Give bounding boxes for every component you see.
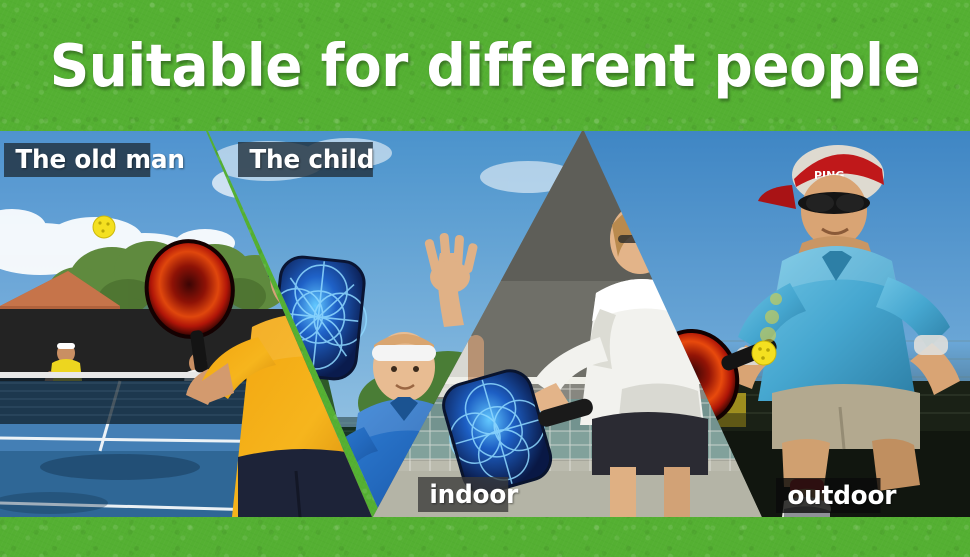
pickleball-yellow bbox=[93, 216, 115, 238]
page-title: Suitable for different people bbox=[34, 34, 936, 98]
label-the-child: The child bbox=[238, 142, 373, 177]
label-indoor-text: indoor bbox=[429, 480, 518, 510]
label-the-old-man: The old man bbox=[4, 143, 150, 177]
label-indoor: indoor bbox=[418, 477, 508, 512]
label-the-child-text: The child bbox=[249, 145, 374, 175]
label-the-old-man-text: The old man bbox=[15, 145, 184, 175]
panel-band: PING bbox=[0, 131, 970, 517]
label-outdoor-text: outdoor bbox=[787, 481, 896, 511]
banner-root: Suitable for different people bbox=[0, 0, 970, 557]
label-outdoor: outdoor bbox=[776, 478, 881, 513]
